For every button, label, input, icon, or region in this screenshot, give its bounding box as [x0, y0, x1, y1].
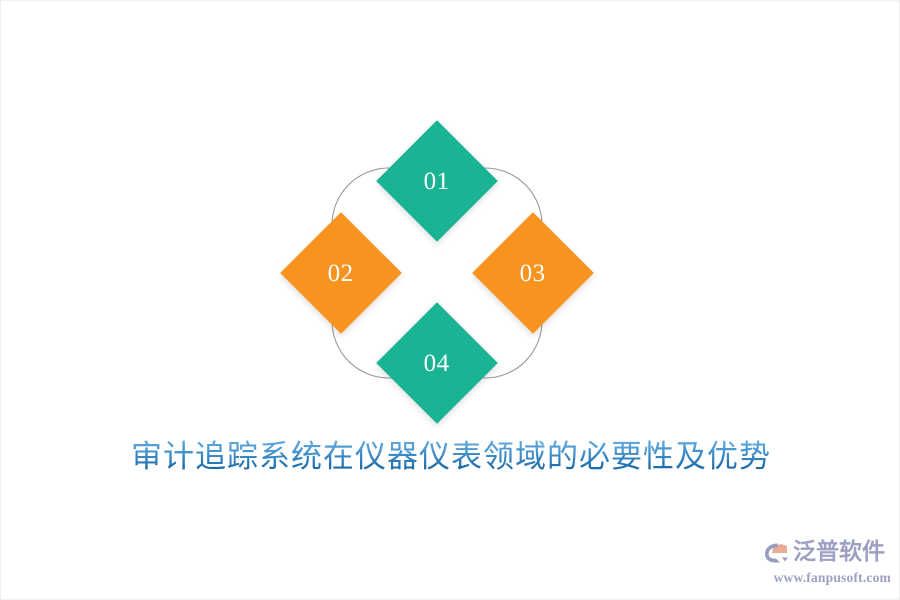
- watermark: 泛普软件 www.fanpusoft.com: [761, 535, 891, 591]
- diagram-container: 01 02 03 04: [1, 1, 900, 431]
- node-label-04: 04: [424, 351, 450, 376]
- watermark-row: 泛普软件: [761, 535, 891, 569]
- watermark-url: www.fanpusoft.com: [761, 570, 891, 586]
- page-canvas: 01 02 03 04 审计追踪系统在仪器仪表领域的必要性及优势: [0, 0, 900, 600]
- page-title: 审计追踪系统在仪器仪表领域的必要性及优势: [1, 431, 900, 476]
- watermark-brand: 泛普软件: [793, 537, 885, 567]
- node-label-01: 01: [424, 169, 450, 194]
- node-label-02: 02: [328, 261, 354, 286]
- node-label-03: 03: [520, 261, 546, 286]
- fanpusoft-logo-icon: [761, 537, 791, 567]
